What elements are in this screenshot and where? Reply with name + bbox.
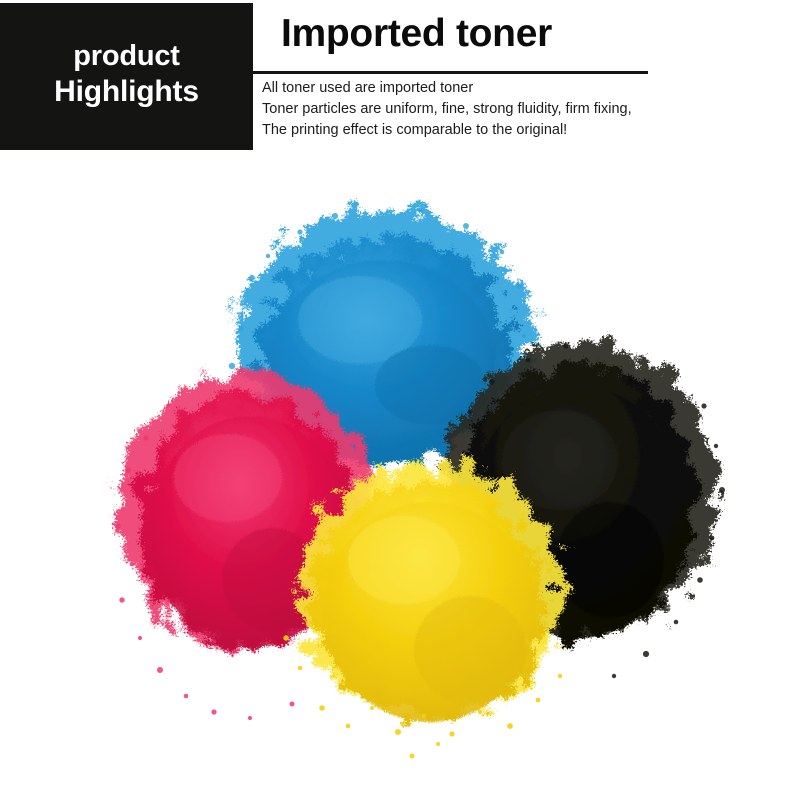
badge-label-product: product [73, 39, 180, 74]
badge-label-highlights: Highlights [54, 74, 199, 111]
title-divider [250, 71, 648, 74]
description-line-2: Toner particles are uniform, fine, stron… [262, 99, 762, 120]
description-line-3: The printing effect is comparable to the… [262, 120, 762, 141]
product-highlights-badge: product Highlights [0, 3, 253, 150]
toner-powder-photo [0, 160, 800, 800]
header-band: product Highlights Imported toner All to… [0, 0, 800, 160]
toner-piles-illustration [0, 160, 800, 800]
page-title: Imported toner [281, 14, 552, 55]
header-description: All toner used are imported toner Toner … [262, 78, 762, 141]
description-line-1: All toner used are imported toner [262, 78, 762, 99]
